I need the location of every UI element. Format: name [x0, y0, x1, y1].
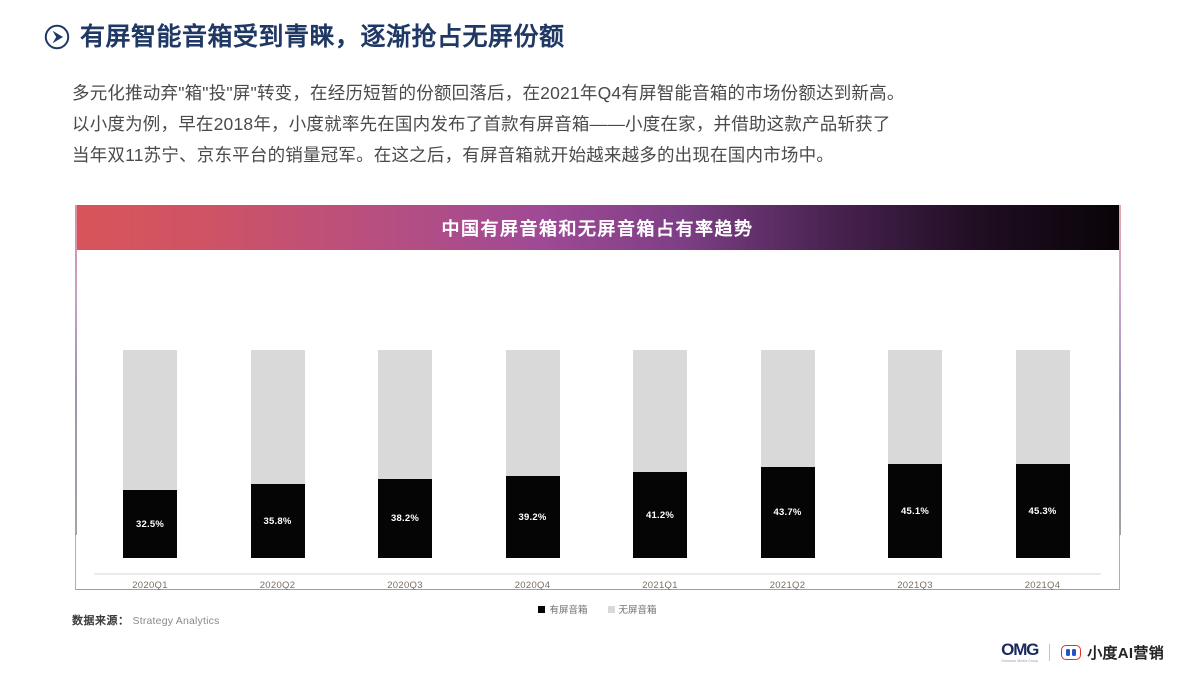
bar-stack: 45.1%	[888, 350, 942, 558]
bar-segment-with-screen[interactable]: 45.1%	[888, 464, 942, 558]
chart-title: 中国有屏音箱和无屏音箱占有率趋势	[442, 215, 754, 241]
play-circle-icon	[44, 24, 70, 50]
legend-label: 无屏音箱	[619, 602, 657, 616]
bar-segment-with-screen[interactable]: 41.2%	[633, 472, 687, 558]
bar-value-label: 38.2%	[378, 513, 432, 524]
bar-segment-with-screen[interactable]: 39.2%	[506, 476, 560, 558]
bar-group[interactable]: 45.1%	[888, 350, 942, 558]
bar-group[interactable]: 38.2%	[378, 350, 432, 558]
bar-value-label: 45.1%	[888, 506, 942, 517]
x-axis-tick-label: 2021Q1	[605, 580, 715, 591]
legend-item[interactable]: 无屏音箱	[608, 602, 657, 616]
bar-segment-no-screen[interactable]	[1016, 350, 1070, 464]
bar-segment-no-screen[interactable]	[251, 350, 305, 484]
omg-subtext: Omnicom Media Group	[1001, 660, 1038, 663]
x-axis-tick-label: 2021Q4	[988, 580, 1098, 591]
x-axis-tick-label: 2021Q2	[733, 580, 843, 591]
x-axis-tick-label: 2021Q3	[860, 580, 970, 591]
body-line-3: 当年双11苏宁、京东平台的销量冠军。在这之后，有屏音箱就开始越来越多的出现在国内…	[72, 140, 1132, 171]
bar-stack: 32.5%	[123, 350, 177, 558]
bar-series-container: 32.5%35.8%38.2%39.2%41.2%43.7%45.1%45.3%	[76, 250, 1119, 573]
bar-group[interactable]: 35.8%	[251, 350, 305, 558]
bar-value-label: 32.5%	[123, 519, 177, 530]
bar-value-label: 43.7%	[761, 507, 815, 518]
source-note: 数据来源： Strategy Analytics	[72, 612, 220, 628]
xiaodu-eye-left	[1066, 649, 1070, 656]
body-paragraph: 多元化推动弃"箱"投"屏"转变，在经历短暂的份额回落后，在2021年Q4有屏智能…	[72, 78, 1132, 171]
bar-segment-with-screen[interactable]: 32.5%	[123, 490, 177, 558]
source-value: Strategy Analytics	[133, 615, 220, 627]
bar-segment-with-screen[interactable]: 35.8%	[251, 484, 305, 558]
source-label: 数据来源：	[72, 612, 130, 628]
body-line-1: 多元化推动弃"箱"投"屏"转变，在经历短暂的份额回落后，在2021年Q4有屏智能…	[72, 78, 1132, 109]
bar-stack: 35.8%	[251, 350, 305, 558]
bar-segment-no-screen[interactable]	[761, 350, 815, 467]
legend-label: 有屏音箱	[549, 602, 587, 616]
footer-divider	[1049, 644, 1050, 661]
bar-segment-with-screen[interactable]: 38.2%	[378, 479, 432, 558]
bar-segment-no-screen[interactable]	[506, 350, 560, 476]
bar-segment-with-screen[interactable]: 45.3%	[1016, 464, 1070, 558]
x-axis-tick-label: 2020Q1	[95, 580, 205, 591]
bar-stack: 39.2%	[506, 350, 560, 558]
bar-segment-no-screen[interactable]	[123, 350, 177, 490]
slide-header: 有屏智能音箱受到青睐，逐渐抢占无屏份额	[44, 24, 565, 50]
bar-value-label: 45.3%	[1016, 506, 1070, 517]
body-line-2: 以小度为例，早在2018年，小度就率先在国内发布了首款有屏音箱——小度在家，并借…	[72, 109, 1132, 140]
omg-logo: OMG Omnicom Media Group	[1001, 641, 1038, 663]
bar-value-label: 39.2%	[506, 512, 560, 523]
legend-swatch	[608, 606, 615, 613]
x-axis-line	[94, 573, 1101, 575]
x-axis-tick-label: 2020Q2	[223, 580, 333, 591]
bar-group[interactable]: 32.5%	[123, 350, 177, 558]
xiaodu-brand-text: 小度AI营销	[1087, 642, 1164, 663]
omg-wordmark: OMG	[1001, 641, 1038, 658]
bar-segment-no-screen[interactable]	[888, 350, 942, 464]
bar-segment-with-screen[interactable]: 43.7%	[761, 467, 815, 558]
panel-edge-right	[1119, 205, 1121, 535]
legend-swatch	[538, 606, 545, 613]
chart-panel: 中国有屏音箱和无屏音箱占有率趋势 32.5%35.8%38.2%39.2%41.…	[75, 205, 1120, 590]
bar-group[interactable]: 45.3%	[1016, 350, 1070, 558]
bar-segment-no-screen[interactable]	[633, 350, 687, 472]
bar-group[interactable]: 39.2%	[506, 350, 560, 558]
xiaodu-eye-right	[1072, 649, 1076, 656]
legend-item[interactable]: 有屏音箱	[538, 602, 587, 616]
x-axis-tick-label: 2020Q3	[350, 580, 460, 591]
xiaodu-logo: 小度AI营销	[1061, 642, 1164, 663]
bar-stack: 45.3%	[1016, 350, 1070, 558]
page-title: 有屏智能音箱受到青睐，逐渐抢占无屏份额	[80, 25, 565, 50]
bar-stack: 38.2%	[378, 350, 432, 558]
bar-segment-no-screen[interactable]	[378, 350, 432, 479]
slide-footer: OMG Omnicom Media Group 小度AI营销	[1001, 641, 1164, 663]
plot-area: 32.5%35.8%38.2%39.2%41.2%43.7%45.1%45.3%…	[76, 250, 1119, 588]
bar-stack: 43.7%	[761, 350, 815, 558]
bar-value-label: 35.8%	[251, 516, 305, 527]
chart-title-banner: 中国有屏音箱和无屏音箱占有率趋势	[76, 205, 1119, 250]
xiaodu-robot-icon	[1061, 645, 1081, 660]
bar-group[interactable]: 41.2%	[633, 350, 687, 558]
panel-edge-left	[75, 205, 77, 535]
bar-stack: 41.2%	[633, 350, 687, 558]
bar-value-label: 41.2%	[633, 510, 687, 521]
bar-group[interactable]: 43.7%	[761, 350, 815, 558]
chart-legend: 有屏音箱无屏音箱	[76, 602, 1119, 616]
x-axis-tick-label: 2020Q4	[478, 580, 588, 591]
